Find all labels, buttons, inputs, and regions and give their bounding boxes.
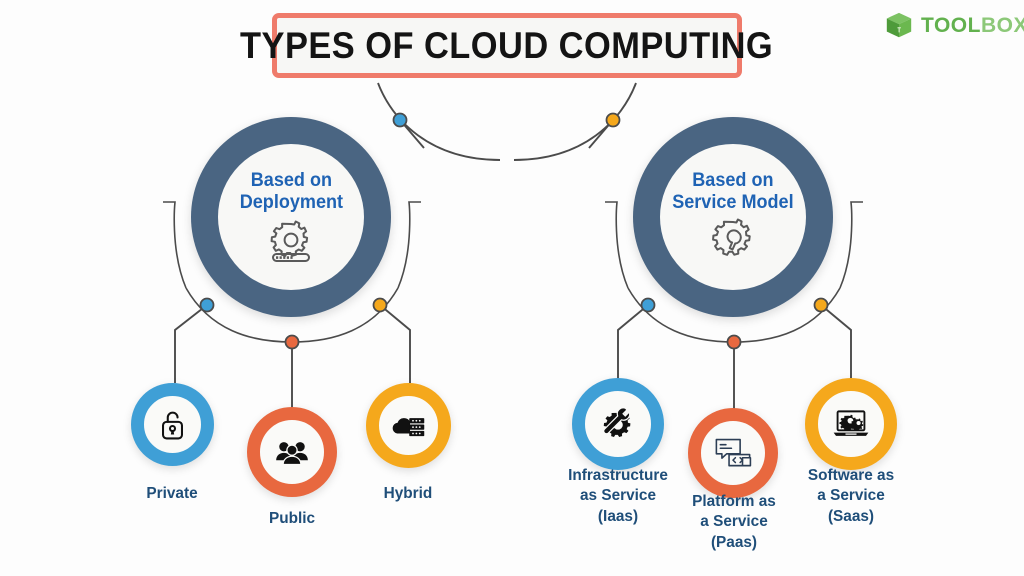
infographic-canvas: TOOLBOX TYPES OF CLOUD COMPUTING — [0, 0, 1024, 576]
hub-service-model-title: Based onService Model — [672, 170, 793, 215]
hub-service-model-inner: Based onService Model — [660, 144, 806, 290]
hub-deployment-inner: Based onDeployment — [218, 144, 364, 290]
node-hybrid-label: Hybrid — [336, 484, 480, 504]
node-hybrid[interactable] — [366, 383, 451, 468]
hub-deployment[interactable]: Based onDeployment — [191, 117, 391, 317]
cloud-server-icon — [391, 414, 426, 438]
cube-icon — [884, 10, 914, 40]
hub-deployment-title: Based onDeployment — [239, 170, 342, 215]
logo-word-secondary: BOX — [981, 14, 1024, 37]
node-private[interactable] — [131, 383, 214, 466]
node-paas[interactable] — [688, 408, 778, 498]
hub-service-model[interactable]: Based onService Model — [633, 117, 833, 317]
node-saas[interactable] — [805, 378, 897, 470]
node-iaas[interactable] — [572, 378, 664, 470]
hub-deployment-title-line1: Based on — [250, 170, 331, 191]
code-screens-icon — [714, 437, 752, 469]
gear-wrench-icon — [707, 218, 759, 264]
padlock-open-icon — [159, 410, 186, 440]
hub-deployment-title-line2: Deployment — [239, 192, 342, 213]
node-public[interactable] — [247, 407, 337, 497]
gear-wrench-solid-icon — [600, 406, 636, 442]
logo-wordmark: TOOLBOX — [921, 15, 1024, 36]
page-title: TYPES OF CLOUD COMPUTING — [272, 13, 742, 78]
node-saas-label: Software as a Service (Saas) — [779, 466, 923, 527]
toolbox-logo: TOOLBOX — [884, 10, 1024, 40]
logo-word-primary: TOOL — [921, 14, 981, 37]
page-title-text: TYPES OF CLOUD COMPUTING — [240, 25, 773, 67]
hub-service-model-title-line2: Service Model — [672, 192, 793, 213]
node-public-label: Public — [220, 509, 364, 529]
node-private-label: Private — [100, 484, 244, 504]
hub-service-model-title-line1: Based on — [692, 170, 773, 191]
laptop-gears-icon — [832, 409, 870, 439]
people-group-icon — [275, 440, 309, 465]
gear-progress-icon — [265, 218, 317, 264]
